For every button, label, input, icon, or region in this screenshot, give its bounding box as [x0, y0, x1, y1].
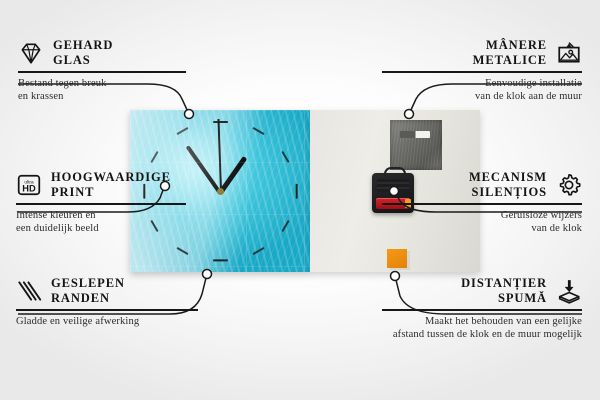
callout-header: GEHARDGLAS — [18, 38, 218, 68]
clock-second-hand — [217, 119, 222, 191]
callout-rule — [382, 71, 582, 73]
clock-tick — [150, 150, 158, 162]
callout-subtitle: Eenvoudige installatievan de klok aan de… — [382, 77, 582, 103]
callout-title: GEHARDGLAS — [53, 38, 113, 68]
picture-hanger-icon — [556, 40, 582, 66]
callout-manere-metalice[interactable]: MÂNEREMETALICE Eenvoudige installatievan… — [382, 38, 582, 103]
svg-text:HD: HD — [22, 184, 36, 194]
spacer-press-icon — [556, 278, 582, 304]
callout-subtitle: Intense kleuren eneen duidelijk beeld — [16, 209, 216, 235]
callout-gehard-glas[interactable]: GEHARDGLAS Bestand tegen breuken krassen — [18, 38, 218, 103]
callout-rule — [382, 203, 582, 205]
callout-mecanism-silentios[interactable]: MECANISMSILENȚIOS Geruisloze wijzersvan … — [382, 170, 582, 235]
callout-title: MECANISMSILENȚIOS — [469, 170, 547, 200]
clock-center-cap — [217, 188, 224, 195]
callout-header: GESLEPENRANDEN — [16, 276, 216, 306]
clock-tick — [282, 219, 290, 231]
callout-header: ultra HD HOOGWAARDIGEPRINT — [16, 170, 216, 200]
callout-subtitle: Bestand tegen breuken krassen — [18, 77, 218, 103]
diamond-icon — [18, 40, 44, 66]
clock-tick — [213, 259, 228, 261]
callout-rule — [16, 309, 198, 311]
callout-subtitle: Geruisloze wijzersvan de klok — [382, 209, 582, 235]
callout-title: GESLEPENRANDEN — [51, 276, 125, 306]
callout-title: MÂNEREMETALICE — [473, 38, 547, 68]
clock-tick — [252, 247, 264, 255]
clock-tick — [295, 183, 297, 198]
callout-rule — [382, 309, 582, 311]
callout-header: MÂNEREMETALICE — [382, 38, 582, 68]
clock-tick — [282, 150, 290, 162]
callout-geslepen-randen[interactable]: GESLEPENRANDEN Gladde en veilige afwerki… — [16, 276, 216, 328]
callout-rule — [18, 71, 186, 73]
metal-hanger-plate-icon — [390, 120, 442, 170]
callout-hoogwaardige-print[interactable]: ultra HD HOOGWAARDIGEPRINT Intense kleur… — [16, 170, 216, 235]
clock-tick — [176, 247, 188, 255]
foam-spacer — [387, 249, 407, 268]
callout-subtitle: Maakt het behouden van een gelijkeafstan… — [382, 315, 582, 341]
clock-tick — [176, 127, 188, 135]
callout-header: MECANISMSILENȚIOS — [382, 170, 582, 200]
hanger-slot — [400, 131, 430, 138]
ultra-hd-icon: ultra HD — [16, 172, 42, 198]
callout-rule — [16, 203, 186, 205]
callout-title: HOOGWAARDIGEPRINT — [51, 170, 171, 200]
infographic-canvas: GEHARDGLAS Bestand tegen breuken krassen… — [0, 0, 600, 400]
callout-header: DISTANȚIERSPUMĂ — [382, 276, 582, 306]
callout-distantier-spuma[interactable]: DISTANȚIERSPUMĂ Maakt het behouden van e… — [382, 276, 582, 341]
clock-tick — [252, 127, 264, 135]
gear-icon — [556, 172, 582, 198]
bevelled-edge-icon — [16, 278, 42, 304]
clock-tick — [213, 121, 228, 123]
callout-title: DISTANȚIERSPUMĂ — [461, 276, 547, 306]
callout-subtitle: Gladde en veilige afwerking — [16, 315, 216, 328]
